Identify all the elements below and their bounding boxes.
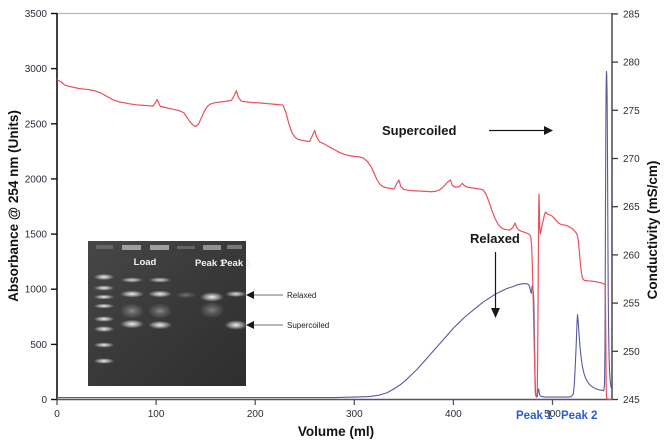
gel-band-label-supercoiled: Supercoiled: [287, 321, 329, 330]
y-tick-2500: 2500: [25, 119, 48, 130]
y2-tick-280: 280: [623, 58, 640, 69]
y-tick-0: 0: [41, 395, 47, 406]
annotation-supercoiled-label: Supercoiled: [382, 123, 456, 138]
y-tick-3000: 3000: [25, 64, 48, 75]
peak-2-label: Peak 2: [561, 410, 597, 422]
x-tick-100: 100: [148, 409, 165, 420]
y2-tick-255: 255: [623, 299, 640, 310]
y-tick-500: 500: [30, 340, 47, 351]
chromatogram-figure: 0 500 1000 1500 2000 2500 3000 3500 Abso…: [0, 0, 670, 443]
y2-tick-285: 285: [623, 9, 640, 20]
gel-lane-peak1: [201, 292, 224, 317]
gel-band-label-relaxed: Relaxed: [287, 291, 316, 300]
gel-lane-faint: [176, 292, 196, 298]
x-tick-400: 400: [445, 409, 462, 420]
x-tick-300: 300: [346, 409, 363, 420]
peak-1-label: Peak 1: [516, 410, 553, 422]
annotation-relaxed-label: Relaxed: [470, 231, 520, 246]
gel-lane-label-peak2: Peak 2: [221, 258, 251, 269]
y-tick-3500: 3500: [25, 9, 48, 20]
y2-tick-265: 265: [623, 202, 640, 213]
y2-tick-245: 245: [623, 395, 640, 406]
chart-svg: 0 500 1000 1500 2000 2500 3000 3500 Abso…: [0, 0, 670, 443]
y2-tick-275: 275: [623, 106, 640, 117]
x-tick-200: 200: [247, 409, 264, 420]
y2-axis-title: Conductivity (mS/cm): [645, 161, 660, 300]
gel-lane-label-load: Load: [134, 257, 157, 268]
y-tick-2000: 2000: [25, 174, 48, 185]
y-tick-1000: 1000: [25, 285, 48, 296]
y2-tick-250: 250: [623, 347, 640, 358]
y2-tick-270: 270: [623, 154, 640, 165]
y2-tick-260: 260: [623, 250, 640, 261]
x-axis-title: Volume (ml): [298, 424, 374, 439]
y-axis-title: Absorbance @ 254 nm (Units): [6, 110, 21, 302]
y-tick-1500: 1500: [25, 230, 48, 241]
x-tick-0: 0: [54, 409, 60, 420]
